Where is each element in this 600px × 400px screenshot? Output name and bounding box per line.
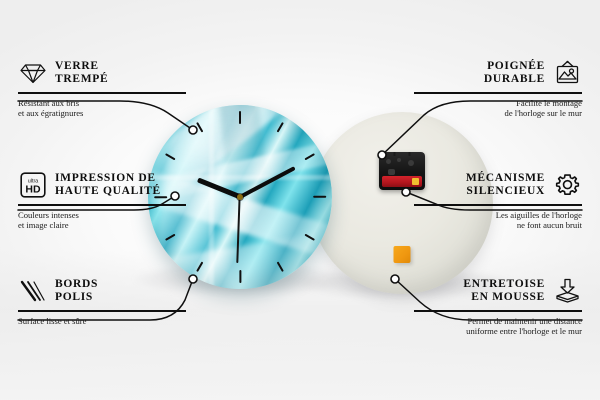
feature-description: Surface lisse et sûre: [18, 316, 186, 327]
feature-title: VERRE TREMPÉ: [55, 60, 108, 87]
clock-tick-2: [304, 153, 315, 160]
feature-divider: [18, 204, 186, 206]
polished-edges-icon: [18, 276, 48, 306]
feather-streak-7: [209, 105, 214, 289]
desc-line-1: Résistant aux bris: [18, 98, 79, 108]
ultra-hd-icon: ultra HD: [18, 170, 48, 200]
title-line-2: DURABLE: [484, 73, 545, 85]
feature-description: Couleurs intenses et image claire: [18, 210, 186, 231]
feature-title: POIGNÉE DURABLE: [484, 60, 545, 87]
feature-divider: [414, 310, 582, 312]
feature-entretoise-en-mousse[interactable]: ENTRETOISE EN MOUSSE Permet de maintenir…: [414, 276, 582, 337]
mechanism-dot-b: [397, 158, 401, 162]
foam-spacer-pad: [394, 246, 411, 263]
feather-streak-5: [216, 105, 283, 289]
title-line-2: EN MOUSSE: [471, 291, 545, 303]
desc-line-2: de l'horloge sur le mur: [505, 108, 582, 118]
clock-tick-8: [165, 234, 176, 241]
feature-description: Facilite le montage de l'horloge sur le …: [414, 98, 582, 119]
title-line-1: ENTRETOISE: [463, 278, 545, 290]
feature-title: ENTRETOISE EN MOUSSE: [463, 278, 545, 305]
feature-title: BORDS POLIS: [55, 278, 98, 305]
clock-tick-6: [239, 270, 241, 283]
feature-header: POIGNÉE DURABLE: [414, 58, 582, 88]
clock-hour-hand: [196, 177, 241, 199]
feature-description: Les aiguilles de l'horloge ne font aucun…: [414, 210, 582, 231]
clock-tick-4: [304, 234, 315, 241]
desc-line-1: Surface lisse et sûre: [18, 316, 87, 326]
feature-header: BORDS POLIS: [18, 276, 186, 306]
title-line-1: MÉCANISME: [466, 172, 545, 184]
title-line-1: VERRE: [55, 60, 99, 72]
feature-divider: [414, 92, 582, 94]
feature-impression-haute-qualite[interactable]: ultra HD IMPRESSION DE HAUTE QUALITÉ Cou…: [18, 170, 186, 231]
infographic-canvas: VERRE TREMPÉ Résistant aux bris et aux é…: [0, 0, 600, 400]
title-line-2: POLIS: [55, 291, 93, 303]
clock-minute-hand: [239, 166, 296, 199]
clock-center-cap: [237, 194, 243, 200]
title-line-2: SILENCIEUX: [466, 185, 545, 197]
mechanism-hanger-tab: [394, 152, 411, 156]
feature-header: MÉCANISME SILENCIEUX: [414, 170, 582, 200]
feature-header: VERRE TREMPÉ: [18, 58, 186, 88]
desc-line-2: ne font aucun bruit: [517, 220, 582, 230]
feature-poignee-durable[interactable]: POIGNÉE DURABLE Facilite le montage de l…: [414, 58, 582, 119]
foam-spacer-icon: [552, 276, 582, 306]
title-line-1: POIGNÉE: [487, 60, 545, 72]
feature-title: IMPRESSION DE HAUTE QUALITÉ: [55, 172, 161, 199]
clock-tick-1: [277, 122, 284, 133]
desc-line-1: Les aiguilles de l'horloge: [496, 210, 582, 220]
clock-tick-11: [196, 122, 203, 133]
mechanism-dot-a: [386, 159, 391, 164]
desc-line-1: Couleurs intenses: [18, 210, 79, 220]
feature-verre-trempe[interactable]: VERRE TREMPÉ Résistant aux bris et aux é…: [18, 58, 186, 119]
title-line-1: IMPRESSION DE: [55, 172, 156, 184]
feature-divider: [18, 92, 186, 94]
mechanism-dot-d: [388, 169, 395, 175]
desc-line-2: uniforme entre l'horloge et le mur: [466, 326, 582, 336]
clock-tick-0: [239, 111, 241, 124]
title-line-2: TREMPÉ: [55, 73, 108, 85]
clock-tick-5: [277, 261, 284, 272]
desc-line-2: et aux égratignures: [18, 108, 83, 118]
mechanism-dot-c: [408, 160, 414, 166]
feature-header: ultra HD IMPRESSION DE HAUTE QUALITÉ: [18, 170, 186, 200]
clock-second-hand: [237, 197, 241, 263]
feature-description: Permet de maintenir une distance uniform…: [414, 316, 582, 337]
feature-header: ENTRETOISE EN MOUSSE: [414, 276, 582, 306]
title-line-2: HAUTE QUALITÉ: [55, 185, 161, 197]
hanging-frame-icon: [552, 58, 582, 88]
feature-mecanisme-silencieux[interactable]: MÉCANISME SILENCIEUX Les aiguilles de l'…: [414, 170, 582, 231]
clock-tick-10: [165, 153, 176, 160]
desc-line-1: Facilite le montage: [516, 98, 582, 108]
clock-tick-3: [313, 196, 326, 198]
desc-line-2: et image claire: [18, 220, 69, 230]
feature-description: Résistant aux bris et aux égratignures: [18, 98, 186, 119]
feature-bords-polis[interactable]: BORDS POLIS Surface lisse et sûre: [18, 276, 186, 326]
desc-line-1: Permet de maintenir une distance: [467, 316, 582, 326]
clock-tick-7: [196, 261, 203, 272]
feature-title: MÉCANISME SILENCIEUX: [466, 172, 545, 199]
diamond-icon: [18, 58, 48, 88]
feature-divider: [414, 204, 582, 206]
svg-text:HD: HD: [25, 183, 41, 195]
title-line-1: BORDS: [55, 278, 98, 290]
gear-icon: [552, 170, 582, 200]
feature-divider: [18, 310, 186, 312]
